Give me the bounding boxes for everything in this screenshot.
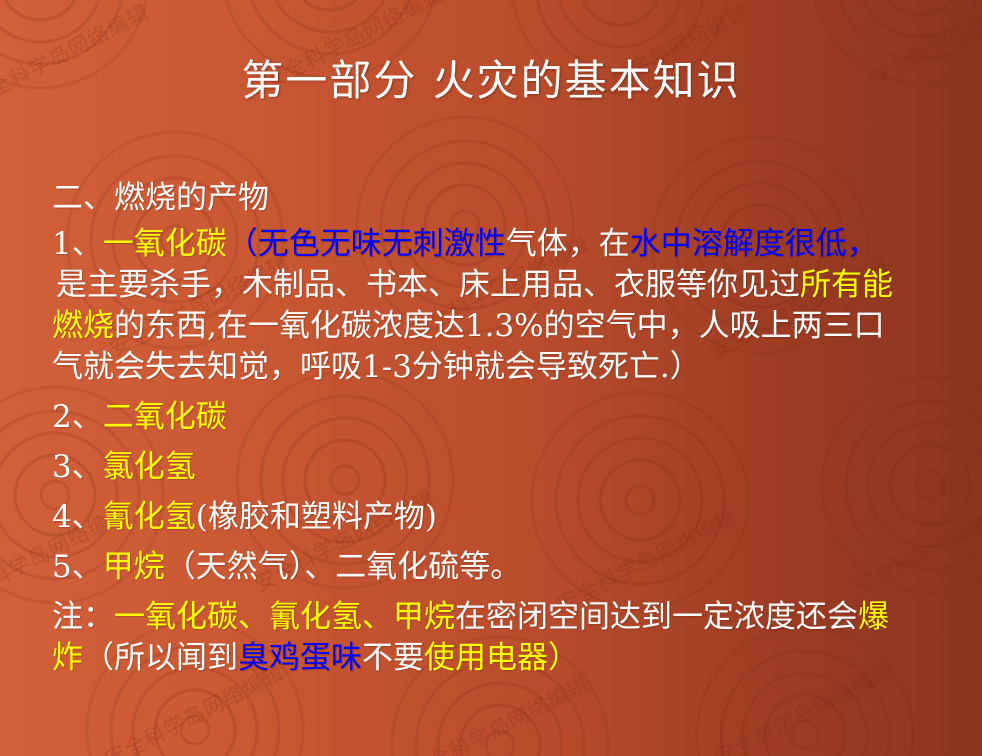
item-1-number: 1、	[52, 226, 103, 262]
list-item-1-line-4: 气就会失去知觉，呼吸1-3分钟就会导致死亡.）	[52, 347, 952, 388]
item-1-line3-a: 燃烧	[52, 308, 114, 344]
item-4-name: 氰化氢	[103, 499, 196, 535]
note-chem-list: 一氧化碳、氰化氢、甲烷	[114, 599, 455, 635]
item-3-name: 氯化氢	[103, 449, 196, 485]
note-text-b: （所以闻到	[83, 640, 238, 676]
item-2-number: 2、	[52, 399, 103, 435]
list-item-1-line-2: 是主要杀手，木制品、书本、床上用品、衣服等你见过所有能	[52, 265, 952, 306]
list-item-4: 4、氰化氢(橡胶和塑料产物)	[52, 497, 952, 538]
list-item-5: 5、甲烷（天然气）、二氧化硫等。	[52, 547, 952, 588]
list-item-1-line-3: 燃烧的东西,在一氧化碳浓度达1.3%的空气中，人吸上两三口	[52, 306, 952, 347]
note-line-1: 注：一氧化碳、氰化氢、甲烷在密闭空间达到一定浓度还会爆	[52, 597, 952, 638]
note-action: 使用电器）	[424, 640, 579, 676]
item-1-desc-a: 无色无味无刺激性	[258, 226, 506, 262]
item-1-desc-b: 气体，在	[506, 226, 630, 262]
item-5-number: 5、	[52, 549, 103, 585]
note-label: 注：	[52, 599, 114, 635]
section-heading: 二、燃烧的产物	[52, 178, 952, 219]
list-item-3: 3、氯化氢	[52, 447, 952, 488]
slide-title: 第一部分 火灾的基本知识	[0, 58, 982, 104]
watermark-text: 安全科学岛网络编辑	[404, 669, 594, 756]
item-1-paren-open: （	[227, 226, 258, 262]
item-5-rest: （天然气）、二氧化硫等。	[165, 549, 522, 585]
item-4-note: (橡胶和塑料产物)	[196, 499, 437, 535]
item-2-name: 二氧化碳	[103, 399, 227, 435]
note-text-c: 不要	[362, 640, 424, 676]
item-4-number: 4、	[52, 499, 103, 535]
slide-body: 二、燃烧的产物 1、一氧化碳（无色无味无刺激性气体，在水中溶解度很低， 是主要杀…	[52, 178, 952, 679]
item-3-number: 3、	[52, 449, 103, 485]
item-1-line2-b: 所有能	[800, 267, 893, 303]
item-1-line3-b: 的东西,在一氧化碳浓度达1.3%的空气中，人吸上两三口	[114, 308, 885, 344]
note-explode-a: 爆	[858, 599, 889, 635]
list-item-1-line-1: 1、一氧化碳（无色无味无刺激性气体，在水中溶解度很低，	[52, 224, 952, 265]
item-1-desc-c: 水中溶解度很低，	[630, 226, 878, 262]
section-heading-text: 二、燃烧的产物	[52, 180, 269, 216]
item-5-name: 甲烷	[103, 549, 165, 585]
note-smell: 臭鸡蛋味	[238, 640, 362, 676]
item-1-line2-a: 是主要杀手，木制品、书本、床上用品、衣服等你见过	[56, 267, 800, 303]
item-1-line4: 气就会失去知觉，呼吸1-3分钟就会导致死亡.）	[52, 349, 701, 385]
list-item-2: 2、二氧化碳	[52, 397, 952, 438]
item-1-name: 一氧化碳	[103, 226, 227, 262]
note-line-2: 炸（所以闻到臭鸡蛋味不要使用电器）	[52, 638, 952, 679]
note-explode-b: 炸	[52, 640, 83, 676]
slide-canvas: 安全科学岛网络编辑 安全科学岛网络编辑 安全科学岛网络编辑 安全科学岛网络编辑 …	[0, 0, 982, 756]
note-text-a: 在密闭空间达到一定浓度还会	[455, 599, 858, 635]
